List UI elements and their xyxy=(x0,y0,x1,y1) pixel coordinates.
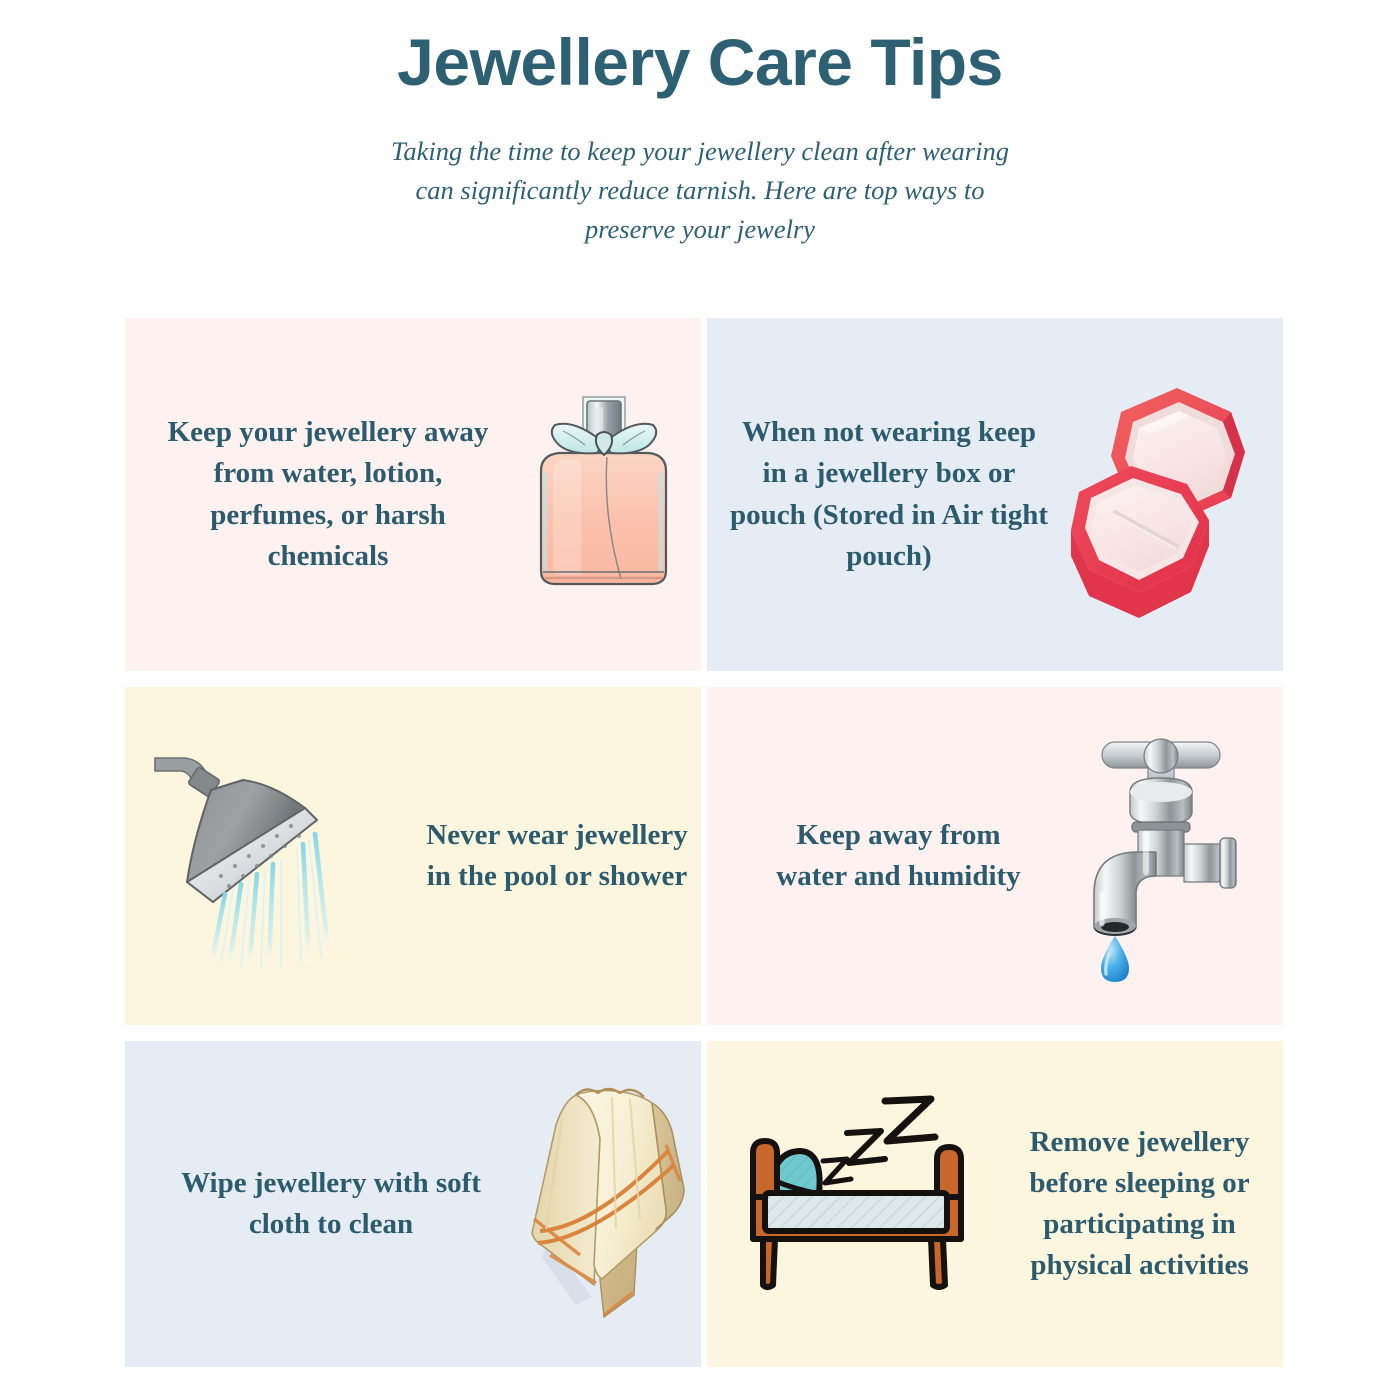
perfume-bottle-icon xyxy=(511,375,696,615)
tip-card-6: Remove jewellery before sleeping or part… xyxy=(707,1041,1283,1367)
ring-box-icon xyxy=(1059,370,1274,620)
page-title: Jewellery Care Tips xyxy=(0,0,1400,100)
tip-card-6-text: Remove jewellery before sleeping or part… xyxy=(1007,1122,1272,1287)
bed-sleep-icon xyxy=(735,1089,985,1319)
tips-grid: Keep your jewellery away from water, lot… xyxy=(125,318,1275,1367)
shower-head-icon xyxy=(149,736,404,976)
header: Jewellery Care Tips Taking the time to k… xyxy=(0,0,1400,250)
cloth-icon xyxy=(516,1079,701,1329)
tip-card-3: Never wear jewellery in the pool or show… xyxy=(125,687,701,1025)
tip-card-4: Keep away from water and humidity xyxy=(707,687,1283,1025)
tip-card-4-text: Keep away from water and humidity xyxy=(761,815,1036,897)
tip-card-2: When not wearing keep in a jewellery box… xyxy=(707,318,1283,671)
tip-card-5: Wipe jewellery with soft cloth to clean xyxy=(125,1041,701,1367)
tip-card-3-text: Never wear jewellery in the pool or show… xyxy=(412,815,701,897)
tip-card-1: Keep your jewellery away from water, lot… xyxy=(125,318,701,671)
tip-card-2-text: When not wearing keep in a jewellery box… xyxy=(729,412,1049,577)
faucet-drip-icon xyxy=(1056,726,1266,986)
tip-card-1-text: Keep your jewellery away from water, lot… xyxy=(153,412,503,577)
tip-card-5-text: Wipe jewellery with soft cloth to clean xyxy=(181,1163,481,1245)
infographic-page: Jewellery Care Tips Taking the time to k… xyxy=(0,0,1400,1400)
page-subtitle: Taking the time to keep your jewellery c… xyxy=(380,100,1020,250)
